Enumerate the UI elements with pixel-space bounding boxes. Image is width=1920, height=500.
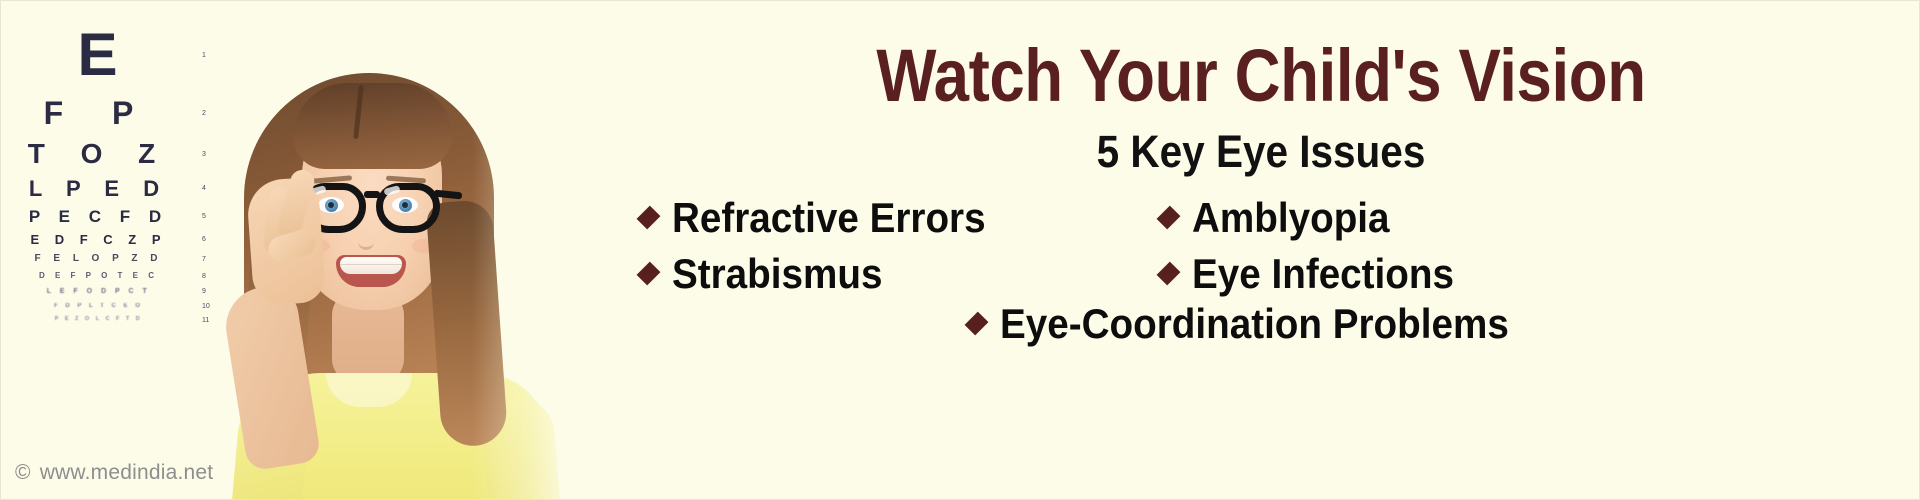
eye-chart-row-letters: P E C F D <box>1 208 196 225</box>
photo-inner <box>206 1 576 500</box>
diamond-bullet-icon <box>1157 261 1181 285</box>
watermark: © www.medindia.net <box>15 461 213 485</box>
bullet-column-left: Refractive Errors Strabismus <box>641 193 1121 298</box>
list-item: Eye Infections <box>1161 249 1681 299</box>
nose-shape <box>358 233 374 250</box>
diamond-bullet-icon <box>965 312 989 336</box>
bullet-columns: Refractive Errors Strabismus Amblyopia E… <box>601 193 1920 298</box>
eye-chart-row-letters: L E F O D P C T <box>1 288 196 295</box>
diamond-bullet-icon <box>1157 206 1181 230</box>
list-item: Eye-Coordination Problems <box>969 299 1553 349</box>
hair-fringe <box>294 83 452 169</box>
eyeglasses-bridge <box>364 191 380 198</box>
list-item-label: Strabismus <box>672 249 882 299</box>
list-item-label: Amblyopia <box>1192 193 1390 243</box>
eye-chart-row-letters: F P <box>1 97 196 129</box>
list-item-label: Eye-Coordination Problems <box>1000 299 1509 349</box>
page-title: Watch Your Child's Vision <box>693 39 1828 113</box>
eye-chart-row-letters: D E F P O T E C <box>1 272 196 280</box>
page-subtitle: 5 Key Eye Issues <box>667 129 1855 174</box>
teeth-gap-line <box>340 264 402 265</box>
bullet-center-row: Eye-Coordination Problems <box>601 299 1920 349</box>
list-item: Amblyopia <box>1161 193 1681 243</box>
eye-chart-row-letters: P E Z O L C F T D <box>1 317 196 323</box>
eye-chart-row-letters: E D F C Z P <box>1 233 196 246</box>
copyright-icon: © <box>15 461 31 485</box>
eye-chart-row-letters: F E L O P Z D <box>1 254 196 264</box>
diamond-bullet-icon <box>637 261 661 285</box>
bullet-column-right: Amblyopia Eye Infections <box>1161 193 1681 298</box>
diamond-bullet-icon <box>637 206 661 230</box>
eye-chart-row-letters: F D P L T C E O <box>1 303 196 309</box>
list-item-label: Refractive Errors <box>672 193 986 243</box>
child-with-glasses-photo <box>206 1 576 500</box>
teeth-shape <box>340 257 402 274</box>
infographic-banner: E 1 F P 2 T O Z 3 L P E D 4 P E C F D 5 … <box>0 0 1920 500</box>
list-item-label: Eye Infections <box>1192 249 1454 299</box>
watermark-site: www.medindia.net <box>40 461 214 485</box>
content-area: Watch Your Child's Vision 5 Key Eye Issu… <box>601 1 1920 500</box>
eye-chart-row-letters: L P E D <box>1 178 196 200</box>
list-item: Refractive Errors <box>641 193 1121 243</box>
list-item: Strabismus <box>641 249 1121 299</box>
eye-chart-row-letters: E <box>1 25 196 85</box>
eye-chart-row-letters: T O Z <box>1 140 196 168</box>
